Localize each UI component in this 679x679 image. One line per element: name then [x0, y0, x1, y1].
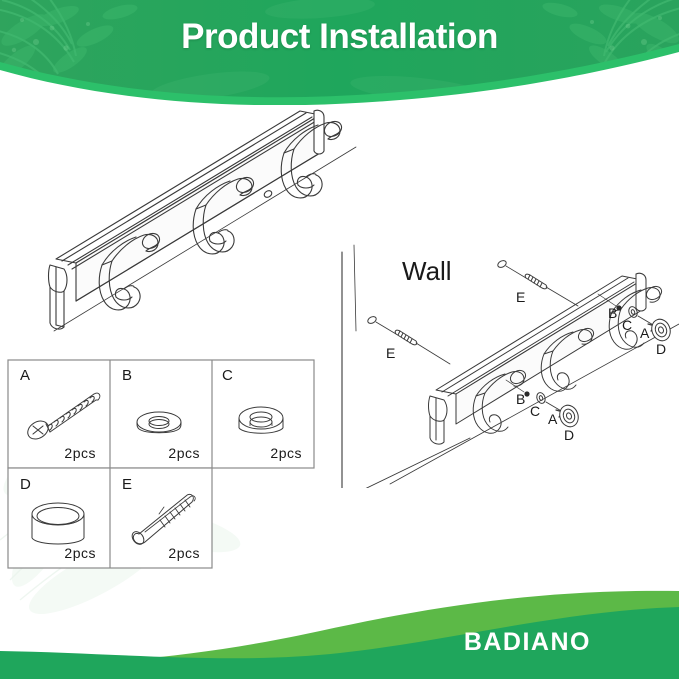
product-illustration — [28, 95, 358, 340]
part-qty-e: 2pcs — [168, 545, 200, 561]
part-qty-a: 2pcs — [64, 445, 96, 461]
wall-label: Wall — [402, 256, 452, 286]
part-letter-b: B — [122, 367, 132, 384]
callout-c-1: C — [622, 317, 632, 333]
callout-b-2: B — [516, 391, 525, 407]
callout-a-1: A — [640, 325, 650, 341]
footer-wave-graphic — [0, 569, 679, 679]
part-letter-e: E — [122, 476, 132, 493]
callout-d-2: D — [564, 427, 574, 443]
callout-d-1: D — [656, 341, 666, 357]
wall-mounting-illustration: Wall — [330, 238, 679, 488]
anchor-label-e-lower: E — [386, 345, 395, 361]
parts-table: A 2pcs B — [4, 356, 316, 572]
part-letter-d: D — [20, 476, 31, 493]
part-qty-d: 2pcs — [64, 545, 96, 561]
part-letter-a: A — [20, 367, 30, 384]
part-qty-c: 2pcs — [270, 445, 302, 461]
header-banner: Product Installation — [0, 0, 679, 105]
page-title: Product Installation — [0, 17, 679, 57]
callout-b-1: B — [608, 305, 617, 321]
callout-c-2: C — [530, 403, 540, 419]
part-letter-c: C — [222, 367, 233, 384]
anchor-label-e-upper: E — [516, 289, 525, 305]
callout-a-2: A — [548, 411, 558, 427]
part-qty-b: 2pcs — [168, 445, 200, 461]
brand-name: BADIANO — [464, 628, 591, 657]
installation-instruction-page: Product Installation — [0, 0, 679, 679]
flat-washer-icon — [137, 412, 181, 433]
footer-banner: BADIANO — [0, 569, 679, 679]
